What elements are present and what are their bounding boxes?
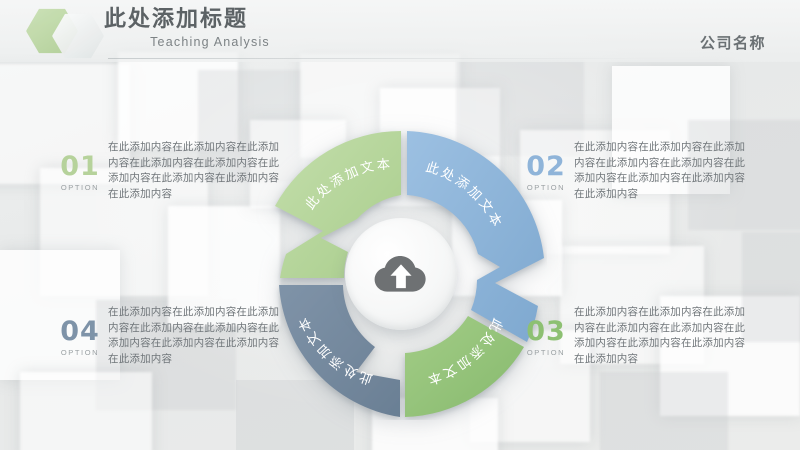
option-sublabel: OPTION: [518, 348, 574, 357]
chart-center-hub: [345, 218, 457, 330]
option-sublabel: OPTION: [52, 183, 108, 192]
option-number: 02: [518, 154, 574, 180]
cloud-upload-icon: [372, 252, 430, 296]
option-block-01[interactable]: 01 OPTION 在此添加内容在此添加内容在此添加内容在此添加内容在此添加内容…: [52, 140, 284, 202]
page-title: 此处添加标题: [104, 4, 404, 34]
option-block-03[interactable]: 03 OPTION 在此添加内容在此添加内容在此添加内容在此添加内容在此添加内容…: [518, 305, 750, 367]
page-header: 此处添加标题 Teaching Analysis 公司名称: [0, 0, 800, 62]
option-number-group: 01 OPTION: [52, 140, 108, 192]
option-number: 01: [52, 154, 108, 180]
option-body-text: 在此添加内容在此添加内容在此添加内容在此添加内容在此添加内容在此添加内容在此添加…: [574, 305, 750, 367]
hexagon-logo: [26, 8, 112, 54]
page-subtitle: Teaching Analysis: [110, 34, 310, 50]
header-divider: [108, 58, 668, 59]
option-body-text: 在此添加内容在此添加内容在此添加内容在此添加内容在此添加内容在此添加内容在此添加…: [108, 305, 284, 367]
option-sublabel: OPTION: [518, 183, 574, 192]
option-body-text: 在此添加内容在此添加内容在此添加内容在此添加内容在此添加内容在此添加内容在此添加…: [108, 140, 284, 202]
option-number: 04: [52, 319, 108, 345]
option-block-04[interactable]: 04 OPTION 在此添加内容在此添加内容在此添加内容在此添加内容在此添加内容…: [52, 305, 284, 367]
option-number-group: 03 OPTION: [518, 305, 574, 357]
title-group: 此处添加标题 Teaching Analysis: [104, 4, 404, 50]
option-number-group: 02 OPTION: [518, 140, 574, 192]
option-body-text: 在此添加内容在此添加内容在此添加内容在此添加内容在此添加内容在此添加内容在此添加…: [574, 140, 750, 202]
option-sublabel: OPTION: [52, 348, 108, 357]
option-number-group: 04 OPTION: [52, 305, 108, 357]
option-block-02[interactable]: 02 OPTION 在此添加内容在此添加内容在此添加内容在此添加内容在此添加内容…: [518, 140, 750, 202]
company-name: 公司名称: [700, 32, 766, 53]
option-number: 03: [518, 319, 574, 345]
